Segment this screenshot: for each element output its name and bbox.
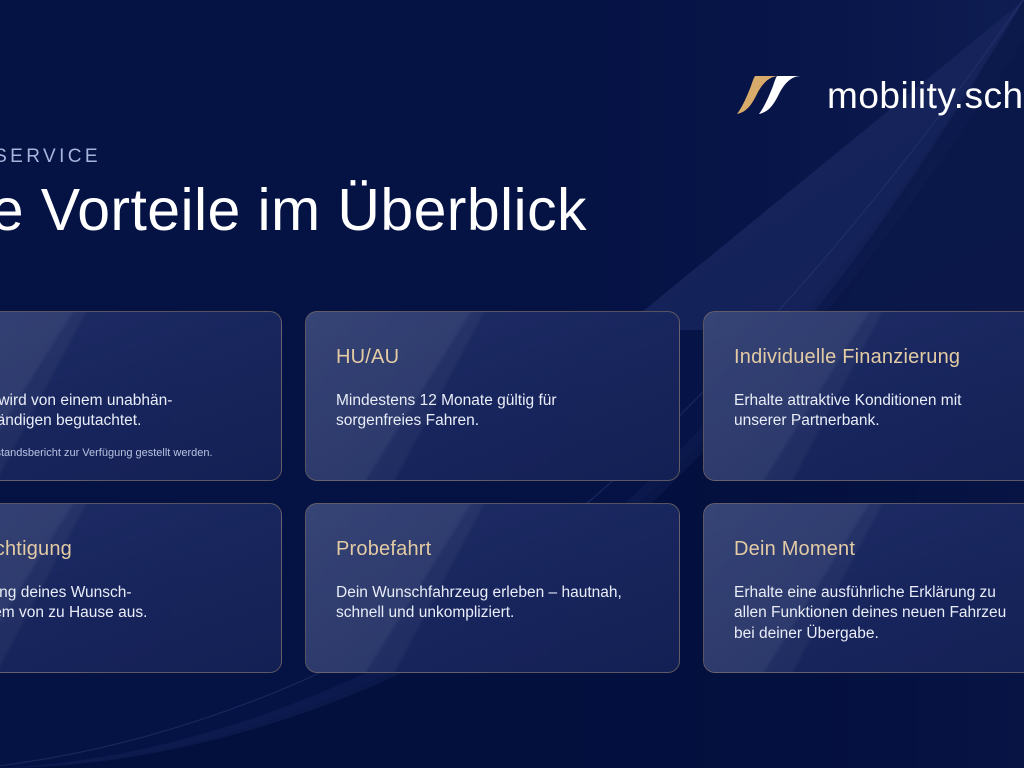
brand-logo[interactable]: mobility.sch <box>733 72 1024 118</box>
card-title: parenz <box>0 346 251 369</box>
benefit-card-hu-au[interactable]: HU/AU Mindestens 12 Monate gültig für so… <box>305 311 680 481</box>
card-title: HU/AU <box>336 346 649 369</box>
page-title: ine Vorteile im Überblick <box>0 178 587 243</box>
brand-wordmark: mobility.sch <box>827 77 1024 114</box>
benefit-card-transparenz[interactable]: parenz ahrzeug wird von einem unabhän- a… <box>0 311 282 481</box>
card-body: Erhalte eine ausführliche Erklärung zu a… <box>734 583 1024 644</box>
card-note: kann ein Zustandsbericht zur Verfügung g… <box>0 446 251 460</box>
card-title: Dein Moment <box>734 538 1024 561</box>
mobility-swoosh-logo-icon <box>733 72 805 118</box>
card-body: ahrzeug wird von einem unabhän- achverst… <box>0 391 251 432</box>
benefit-card-probefahrt[interactable]: Probefahrt Dein Wunschfahrzeug erleben –… <box>305 503 680 673</box>
benefit-card-finanzierung[interactable]: Individuelle Finanzierung Erhalte attrak… <box>703 311 1024 481</box>
benefits-card-grid: parenz ahrzeug wird von einem unabhän- a… <box>0 311 1024 673</box>
eyebrow-label: UM-SERVICE <box>0 146 101 168</box>
slide-canvas: mobility.sch UM-SERVICE ine Vorteile im … <box>0 0 1024 768</box>
card-body: esichtigung deines Wunsch- gs bequem von… <box>0 583 251 624</box>
card-title: Probefahrt <box>336 538 649 561</box>
card-body: Mindestens 12 Monate gültig für sorgenfr… <box>336 391 649 432</box>
card-body: Dein Wunschfahrzeug erleben – hautnah, s… <box>336 583 649 624</box>
card-body: Erhalte attraktive Konditionen mit unser… <box>734 391 1024 432</box>
card-title: e Besichtigung <box>0 538 251 561</box>
benefit-card-dein-moment[interactable]: Dein Moment Erhalte eine ausführliche Er… <box>703 503 1024 673</box>
card-title: Individuelle Finanzierung <box>734 346 1024 369</box>
benefit-card-besichtigung[interactable]: e Besichtigung esichtigung deines Wunsch… <box>0 503 282 673</box>
